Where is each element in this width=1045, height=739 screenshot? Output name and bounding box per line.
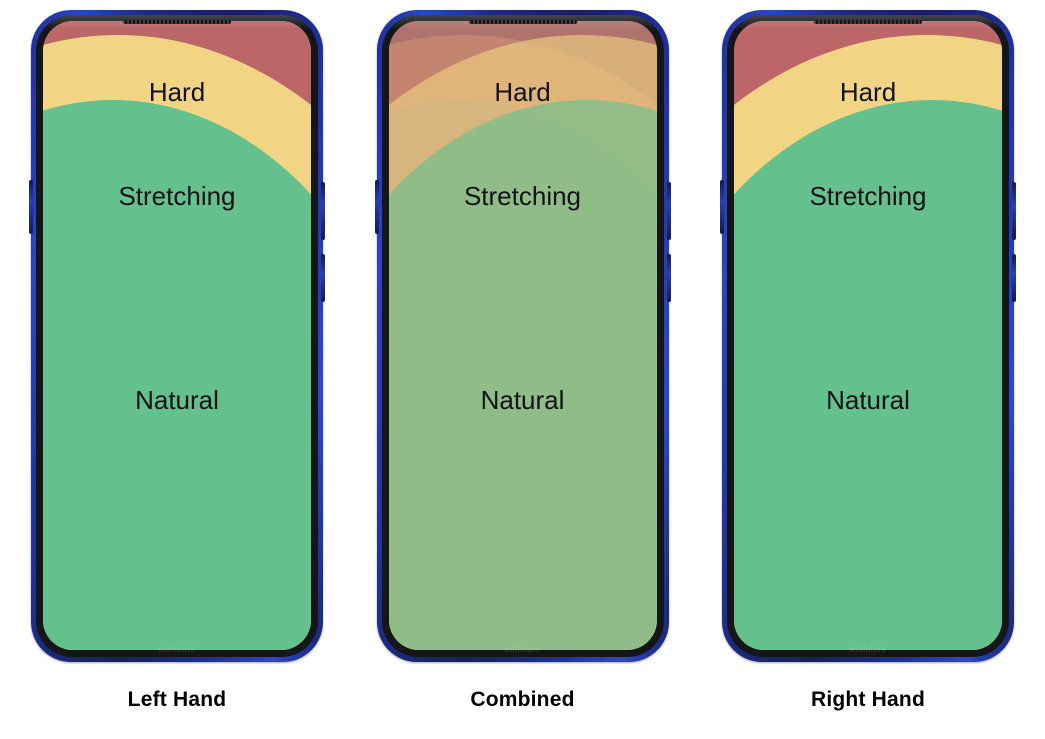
power-button-icon[interactable] — [667, 182, 671, 240]
watermark: winfuture — [808, 645, 928, 654]
panel-left-hand: Hard Stretching Natural winfuture Left H… — [22, 10, 332, 712]
volume-button-icon[interactable] — [375, 180, 379, 234]
assistant-button-icon[interactable] — [1012, 254, 1016, 302]
reach-zones-left — [43, 21, 311, 650]
panel-caption-combined: Combined — [470, 688, 574, 712]
reach-zones-right — [734, 21, 1002, 650]
power-button-icon[interactable] — [1012, 182, 1016, 240]
power-button-icon[interactable] — [321, 182, 325, 240]
zone-natural — [43, 100, 311, 650]
screen-combined: Hard Stretching Natural — [389, 21, 657, 650]
volume-button-icon[interactable] — [29, 180, 33, 234]
assistant-button-icon[interactable] — [667, 254, 671, 302]
earpiece-speaker-icon — [123, 20, 231, 24]
reach-zones-right-overlay — [389, 21, 657, 650]
panel-caption-right-hand: Right Hand — [811, 688, 925, 712]
volume-button-icon[interactable] — [720, 180, 724, 234]
phone-bezel-right: Hard Stretching Natural winfuture — [727, 15, 1009, 657]
phone-mockup-right: Hard Stretching Natural winfuture — [722, 10, 1014, 662]
phone-bezel-combined: Hard Stretching Natural winfuture — [382, 15, 664, 657]
earpiece-speaker-icon — [469, 20, 577, 24]
screen-right: Hard Stretching Natural — [734, 21, 1002, 650]
panel-right-hand: Hard Stretching Natural winfuture Right … — [713, 10, 1023, 712]
watermark: winfuture — [117, 645, 237, 654]
panel-combined: Hard Stretching Natural winfuture Combin… — [368, 10, 678, 712]
phone-bezel-left: Hard Stretching Natural winfuture — [36, 15, 318, 657]
zone-natural — [734, 100, 1002, 650]
reachability-figure: Hard Stretching Natural winfuture Left H… — [0, 0, 1045, 739]
phone-mockup-left: Hard Stretching Natural winfuture — [31, 10, 323, 662]
assistant-button-icon[interactable] — [321, 254, 325, 302]
phone-mockup-combined: Hard Stretching Natural winfuture — [377, 10, 669, 662]
watermark: winfuture — [463, 645, 583, 654]
earpiece-speaker-icon — [814, 20, 922, 24]
panel-caption-left-hand: Left Hand — [128, 688, 227, 712]
screen-left: Hard Stretching Natural — [43, 21, 311, 650]
zone-natural — [389, 100, 657, 650]
